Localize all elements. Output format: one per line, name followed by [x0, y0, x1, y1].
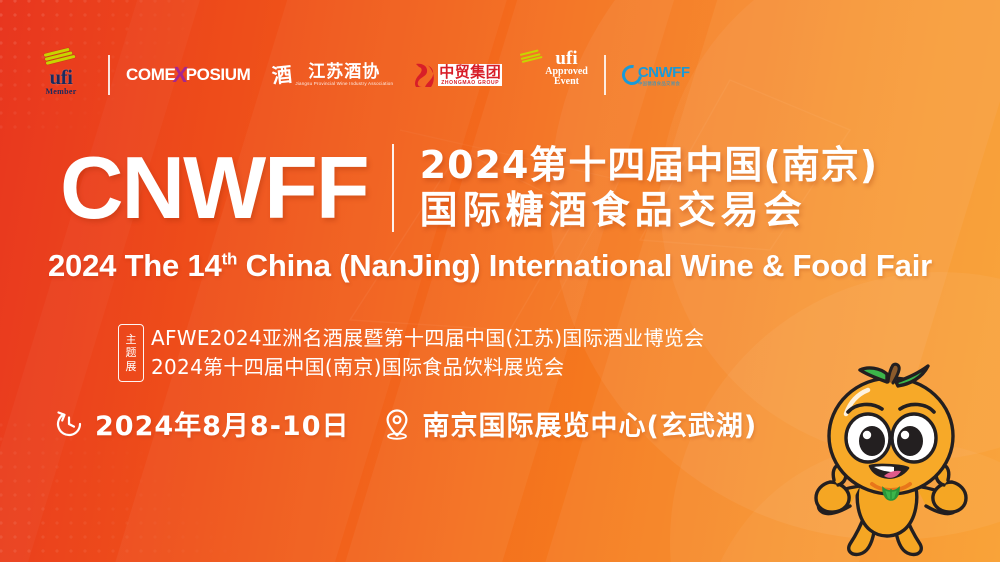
comexposium-part2: POSIUM [186, 65, 251, 85]
event-date-text: 2024年8月8-10日 [95, 404, 350, 443]
ufi-approved-event-logo[interactable]: ufi Approved Event [520, 50, 588, 100]
title-divider [392, 144, 394, 232]
zhongmao-group-logo[interactable]: 中贸集团 ZHONGMAO GROUP [413, 50, 502, 100]
theme-exhibition-line-2: 2024第十四届中国(南京)国际食品饮料展览会 [151, 353, 704, 382]
title-cn-line1: 2024第十四届中国(南京) [420, 143, 879, 188]
main-title: CNWFF 2024第十四届中国(南京) 国际糖酒食品交易会 [60, 143, 878, 233]
sponsor-logo-bar: ufi Member COME X POSIUM 酒 江苏酒协 Jiangsu … [44, 50, 689, 100]
event-venue: 南京国际展览中心(玄武湖) [382, 404, 758, 443]
cnwff-logo[interactable]: CNWFF 中国糖酒食品交易会 [622, 50, 690, 100]
event-venue-text: 南京国际展览中心(玄武湖) [423, 404, 758, 443]
ufi-swoosh-icon [520, 54, 544, 65]
badge-char-2: 题 [126, 346, 137, 359]
logo-divider [604, 55, 606, 95]
logo-divider [108, 55, 110, 95]
comexposium-logo[interactable]: COME X POSIUM [126, 50, 250, 100]
subtitle-en-ordinal: th [222, 250, 238, 269]
wine-seal-icon: 酒 [271, 64, 293, 86]
title-acronym: CNWFF [60, 146, 368, 230]
badge-char-3: 展 [126, 360, 137, 373]
subtitle-en-before: 2024 The 14 [48, 248, 222, 283]
ufi-approved-label: ufi [555, 50, 577, 67]
mascot-illustration [788, 362, 994, 562]
poster-banner: ufi Member COME X POSIUM 酒 江苏酒协 Jiangsu … [0, 0, 1000, 562]
orange-fruit-mascot [788, 362, 994, 562]
jiangsu-wine-en-label: Jiangsu Provincial Wine Industry Associa… [295, 81, 393, 86]
ufi-member-logo[interactable]: ufi Member [44, 50, 92, 100]
location-pin-icon [382, 408, 412, 440]
badge-char-1: 主 [126, 333, 137, 346]
theme-exhibitions: 主 题 展 AFWE2024亚洲名酒展暨第十四届中国(江苏)国际酒业博览会 20… [118, 324, 704, 382]
theme-exhibition-badge: 主 题 展 [118, 324, 144, 382]
cnwff-logo-cn-label: 中国糖酒食品交易会 [638, 81, 680, 87]
ufi-member-sublabel: Member [45, 87, 76, 96]
subtitle-en-after: China (NanJing) International Wine & Foo… [237, 248, 932, 283]
event-info-row: 2024年8月8-10日 南京国际展览中心(玄武湖) [54, 404, 757, 443]
jiangsu-wine-cn-label: 江苏酒协 [308, 64, 380, 82]
zhongmao-cn-label: 中贸集团 [438, 64, 502, 81]
clock-icon [54, 409, 84, 439]
cnwff-logo-label: CNWFF [638, 64, 690, 81]
theme-exhibition-line-1: AFWE2024亚洲名酒展暨第十四届中国(江苏)国际酒业博览会 [151, 324, 704, 353]
dragon-mark-icon [413, 62, 435, 88]
title-cn-line2: 国际糖酒食品交易会 [420, 188, 879, 233]
title-english-subtitle: 2024 The 14th China (NanJing) Internatio… [48, 248, 932, 284]
zhongmao-en-label: ZHONGMAO GROUP [438, 80, 502, 86]
ufi-swoosh-icon [44, 54, 78, 67]
comexposium-part1: COME [126, 65, 175, 85]
event-date: 2024年8月8-10日 [54, 404, 350, 443]
ufi-approved-line3: Event [554, 77, 579, 87]
ufi-member-label: ufi [49, 68, 72, 87]
jiangsu-wine-association-logo[interactable]: 酒 江苏酒协 Jiangsu Provincial Wine Industry … [272, 50, 393, 100]
